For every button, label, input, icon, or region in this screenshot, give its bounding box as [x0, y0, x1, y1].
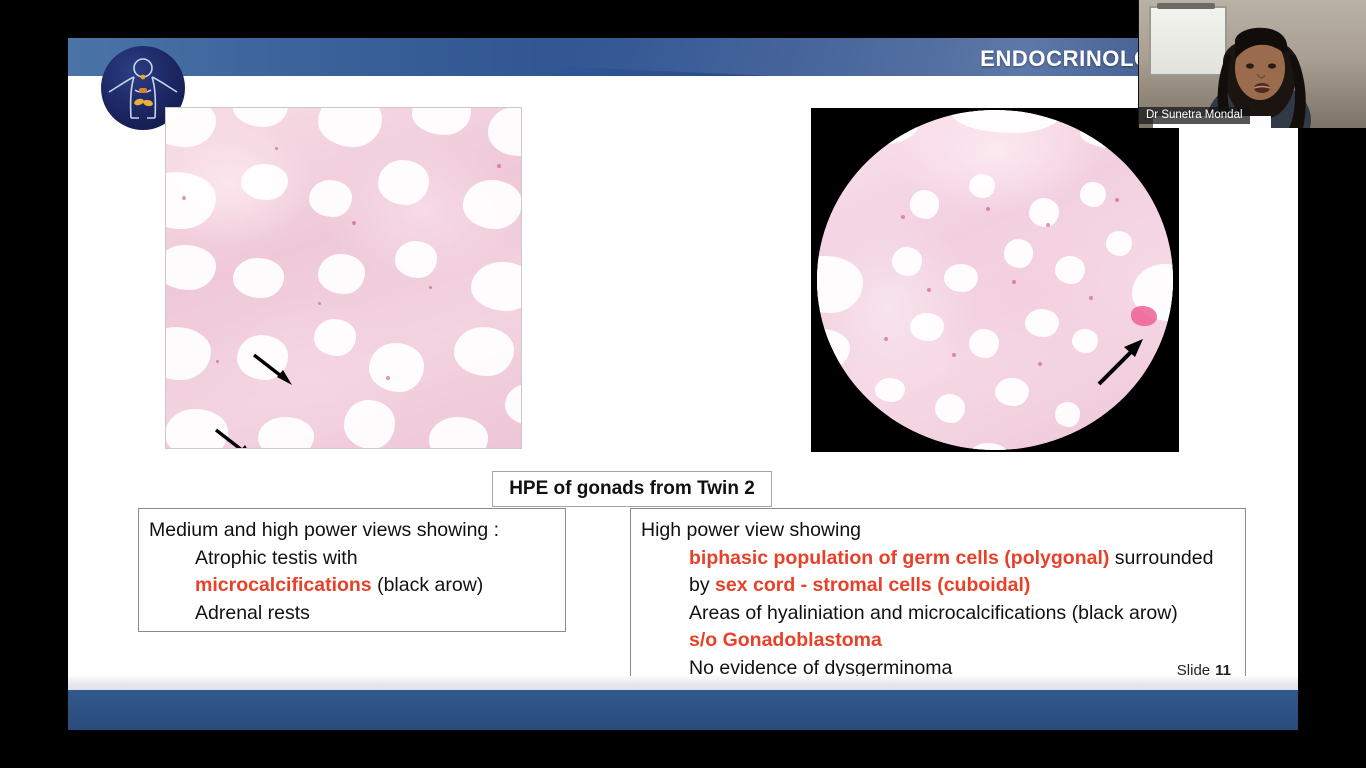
slide-title-chip: HPE of gonads from Twin 2 — [492, 471, 772, 507]
video-player-screen: ENDOCRINOLOGY M — [0, 0, 1366, 768]
footer-gray-strip — [68, 676, 1298, 690]
left-line-3-rest: (black arow) — [372, 574, 484, 596]
black-arrow-icon-1 — [252, 351, 300, 391]
black-arrow-icon-2 — [214, 426, 262, 449]
presentation-slide: ENDOCRINOLOGY M — [68, 38, 1298, 730]
high-power-microscope-field — [811, 108, 1179, 452]
left-line-1: Medium and high power views showing : — [149, 517, 555, 545]
right-findings-box: High power view showing biphasic populat… — [630, 508, 1246, 688]
medium-power-histology-image — [165, 107, 522, 449]
right-line-2: biphasic population of germ cells (polyg… — [641, 545, 1233, 573]
tissue-texture — [165, 107, 522, 449]
left-findings-box: Medium and high power views showing : At… — [138, 508, 566, 632]
microscope-circular-field — [817, 110, 1173, 450]
calcification-focus — [1131, 306, 1157, 326]
left-line-3: microcalcifications (black arow) — [149, 572, 555, 600]
webcam-overlay[interactable]: Dr Sunetra Mondal — [1138, 0, 1366, 128]
participant-name-label: Dr Sunetra Mondal — [1139, 107, 1250, 124]
right-line-1: High power view showing — [641, 517, 1233, 545]
right-line-2-rest: surrounded — [1109, 547, 1213, 569]
sex-cord-stromal-highlight: sex cord - stromal cells (cuboidal) — [715, 574, 1030, 596]
biphasic-population-highlight: biphasic population of germ cells (polyg… — [689, 547, 1109, 569]
left-line-2: Atrophic testis with — [149, 545, 555, 573]
gonadoblastoma-highlight: s/o Gonadoblastoma — [641, 627, 1233, 655]
right-line-4: Areas of hyaliniation and microcalcifica… — [641, 600, 1233, 628]
slide-header-bar: ENDOCRINOLOGY M — [68, 38, 1298, 76]
right-line-3-pre: by — [689, 574, 715, 596]
black-arrow-icon-3 — [1091, 336, 1149, 388]
footer-blue-bar — [68, 690, 1298, 730]
left-line-4: Adrenal rests — [149, 600, 555, 628]
tissue-texture — [817, 110, 1173, 450]
microcalcifications-highlight: microcalcifications — [195, 574, 372, 596]
right-line-3: by sex cord - stromal cells (cuboidal) — [641, 572, 1233, 600]
